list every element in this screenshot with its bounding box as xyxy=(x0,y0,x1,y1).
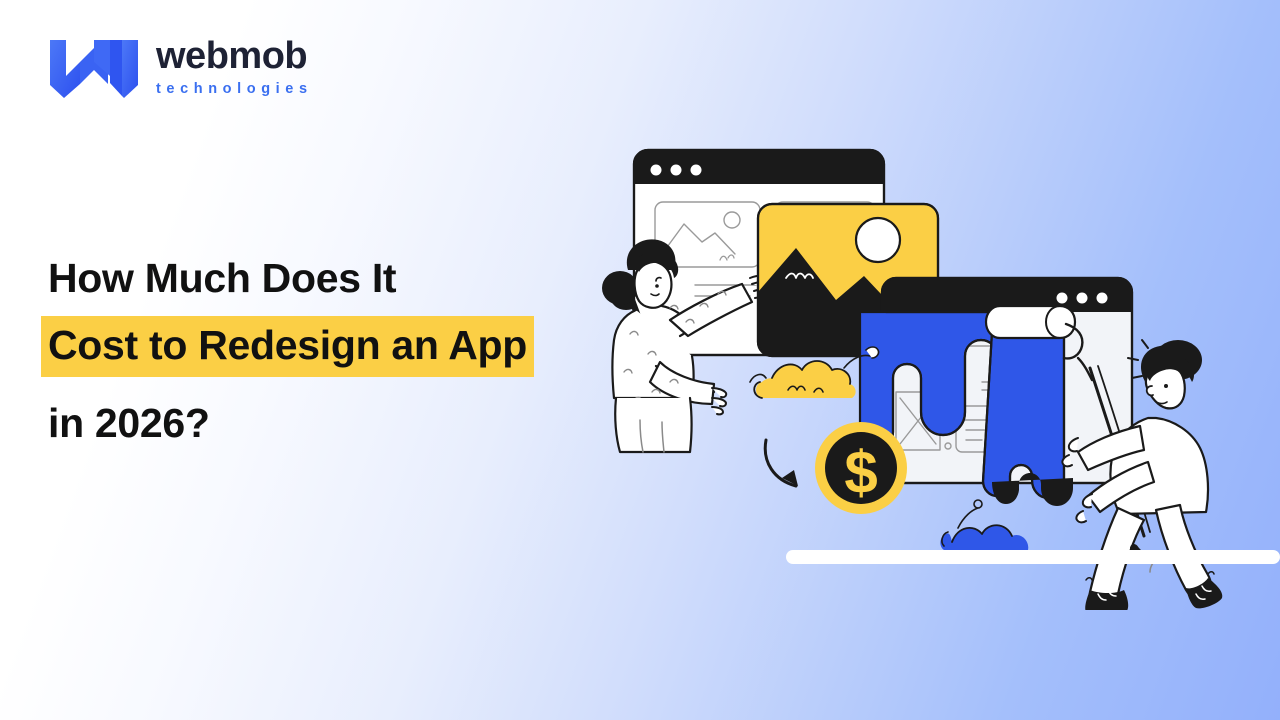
window-dot xyxy=(1057,293,1068,304)
app-redesign-illustration: $ xyxy=(600,110,1280,610)
window-dot xyxy=(671,165,682,176)
dollar-symbol: $ xyxy=(844,439,877,506)
window-dot xyxy=(1097,293,1108,304)
window-dot xyxy=(1077,293,1088,304)
headline-line-2-highlighted: Cost to Redesign an App xyxy=(41,316,534,377)
curved-arrow xyxy=(765,440,798,486)
headline-block: How Much Does It Cost to Redesign an App… xyxy=(48,258,608,444)
blue-bush xyxy=(940,500,1028,556)
dollar-coin: $ xyxy=(815,422,907,514)
ground-bar xyxy=(786,550,1280,564)
logo-tagline: technologies xyxy=(156,82,313,97)
logo-wordmark: webmob technologies xyxy=(156,37,313,97)
window-dot xyxy=(691,165,702,176)
brand-logo[interactable]: webmob technologies xyxy=(48,36,313,98)
hero-banner: webmob technologies How Much Does It Cos… xyxy=(0,0,1280,720)
logo-name: webmob xyxy=(156,37,313,75)
webmob-logo-icon xyxy=(48,36,140,98)
headline-line-3: in 2026? xyxy=(48,403,608,444)
window-dot xyxy=(651,165,662,176)
headline-line-1: How Much Does It xyxy=(48,258,608,299)
